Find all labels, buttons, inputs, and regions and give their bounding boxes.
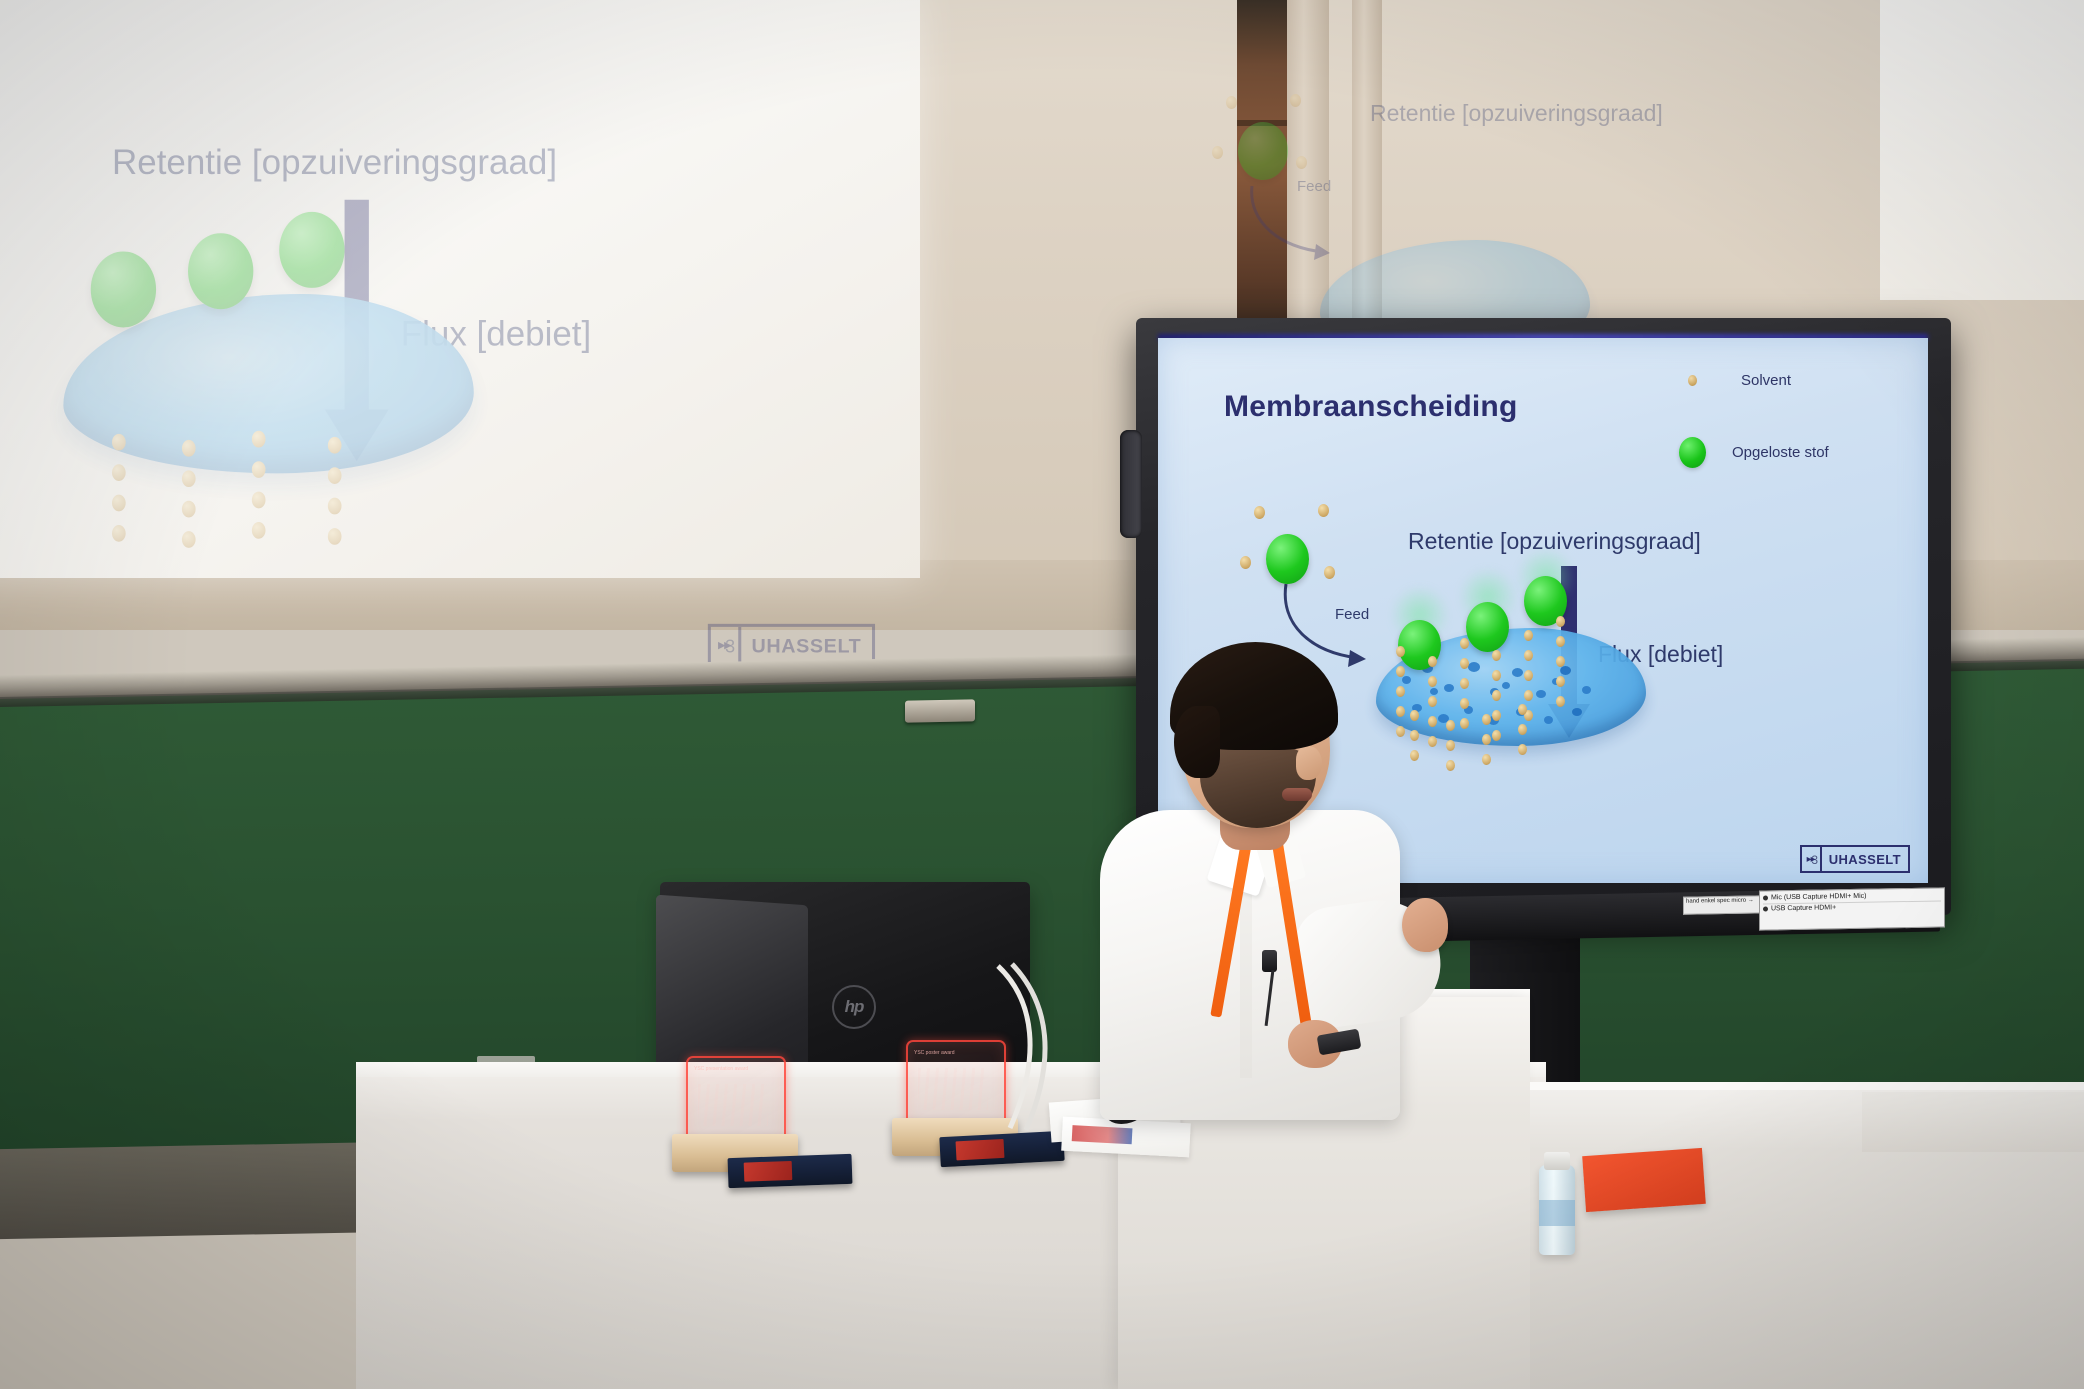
permeate-solvent-chain <box>1556 616 1565 716</box>
retained-solute-sphere <box>1466 602 1509 652</box>
desk-far-right <box>1862 1092 2084 1152</box>
projection-solvent-chain <box>182 440 196 562</box>
right-projection-screen: Retentie [opzuiveringsgraad] Feed <box>1880 0 2084 300</box>
award-etch-artwork <box>918 1068 988 1110</box>
projection2-feed-arrow-icon <box>1246 182 1356 262</box>
projection-solute-sphere <box>91 251 156 327</box>
permeate-solvent-chain <box>1492 650 1501 750</box>
permeate-solvent-chain <box>1460 638 1469 738</box>
feed-solute-sphere <box>1266 534 1309 584</box>
projection2-solvent-dot <box>1212 146 1223 159</box>
radio-icon <box>1763 906 1768 911</box>
projection2-solvent-dot <box>1226 96 1237 109</box>
legend-label-solvent: Solvent <box>1741 372 1791 389</box>
uhasselt-triangle-icon: ▸▸ <box>1802 847 1822 871</box>
projection-solvent-chain <box>252 431 266 553</box>
projection-retention-label: Retentie [opzuiveringsgraad] <box>112 142 557 183</box>
solvent-dot <box>1240 556 1251 569</box>
lecture-hall-scene: Retentie [opzuiveringsgraad] Flux [debie… <box>0 0 2084 1389</box>
water-bottle-label <box>1539 1200 1575 1226</box>
presenter-right-hand <box>1402 898 1448 952</box>
water-bottle-cap <box>1544 1152 1570 1170</box>
slide-legend: Solvent Opgeloste stof <box>1674 372 1904 516</box>
projection2-solvent-dot <box>1290 94 1301 107</box>
award-glass-panel: YSC presentation award <box>686 1056 786 1144</box>
left-projection-screen: Retentie [opzuiveringsgraad] Flux [debie… <box>0 0 920 578</box>
left-projection-slide: Retentie [opzuiveringsgraad] Flux [debie… <box>0 0 902 682</box>
presenter <box>1090 650 1450 1120</box>
uhasselt-triangle-icon: ▸▸ <box>710 627 740 663</box>
presenter-mouth <box>1282 788 1312 801</box>
solvent-dot <box>1254 506 1265 519</box>
uhasselt-logo: ▸▸ UHASSELT <box>1800 845 1910 873</box>
conference-booklet <box>728 1154 853 1188</box>
solute-sphere-icon <box>1679 437 1706 468</box>
legend-item-solvent: Solvent <box>1674 372 1904 389</box>
permeate-solvent-chain <box>1518 704 1527 764</box>
projection2-retention-label: Retentie [opzuiveringsgraad] <box>1370 100 1663 127</box>
uhasselt-wordmark: UHASSELT <box>741 627 872 663</box>
popup-option-capture[interactable]: USB Capture HDMI+ <box>1763 902 1941 915</box>
projection-solute-sphere <box>188 233 253 309</box>
popup-caption: hand enkel spec micro → <box>1683 895 1769 915</box>
projection-solvent-chain <box>112 434 126 556</box>
clip-microphone-icon <box>1262 950 1277 972</box>
presenter-hair-side <box>1174 706 1220 778</box>
radio-icon <box>1763 895 1768 900</box>
projection2-solvent-dot <box>1296 156 1307 169</box>
solvent-dot-icon <box>1688 375 1697 386</box>
legend-label-solute: Opgeloste stof <box>1732 444 1829 461</box>
solvent-dot <box>1318 504 1329 517</box>
hp-logo-icon: hp <box>832 985 876 1029</box>
slide-title: Membraanscheiding <box>1224 390 1517 424</box>
projection2-solute-sphere <box>1238 122 1288 180</box>
uhasselt-wordmark: UHASSELT <box>1822 847 1908 871</box>
shirt-placket <box>1240 878 1252 1078</box>
permeate-solvent-chain <box>1482 714 1491 774</box>
projection-solvent-chain <box>328 437 342 559</box>
award-etch-text: YSC presentation award <box>694 1066 778 1073</box>
award-etch-artwork <box>698 1084 768 1126</box>
chalkboard-clip <box>905 699 975 722</box>
legend-item-solute: Opgeloste stof <box>1674 437 1904 468</box>
presenter-nose <box>1296 746 1322 780</box>
solvent-dot <box>1324 566 1335 579</box>
audio-device-popup[interactable]: Mic (USB Capture HDMI+ Mic) USB Capture … <box>1759 887 1945 930</box>
red-folder <box>1582 1148 1706 1212</box>
display-side-handle <box>1120 430 1142 538</box>
projection-solute-sphere <box>279 212 344 288</box>
